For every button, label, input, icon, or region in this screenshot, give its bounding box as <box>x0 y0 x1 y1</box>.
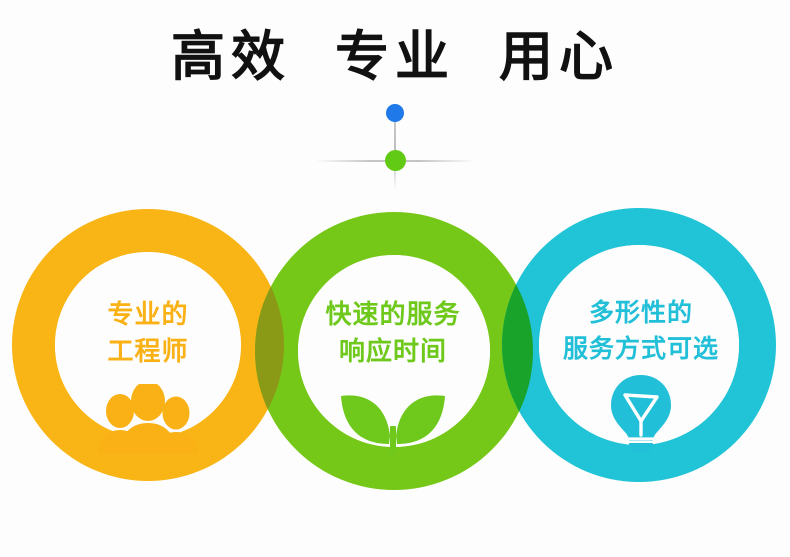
circle-orange-line-1: 专业的 <box>38 296 258 333</box>
circle-cyan-content[interactable]: 多形性的 服务方式可选 <box>528 296 754 451</box>
infographic-canvas: 高效专业用心 <box>0 0 790 557</box>
circle-green-content[interactable]: 快速的服务 响应时间 <box>283 296 503 454</box>
lightbulb-icon <box>528 373 754 451</box>
circle-orange-label: 专业的 工程师 <box>38 296 258 370</box>
circle-orange-line-2: 工程师 <box>38 333 258 370</box>
circle-cyan-line-2: 服务方式可选 <box>528 332 754 368</box>
circle-orange-content[interactable]: 专业的 工程师 <box>38 296 258 454</box>
circle-cyan-label: 多形性的 服务方式可选 <box>528 296 754 367</box>
circle-green-label: 快速的服务 响应时间 <box>283 296 503 370</box>
venn-rings <box>0 0 790 557</box>
sprout-leaf-icon <box>283 376 503 454</box>
circle-green-line-1: 快速的服务 <box>283 296 503 333</box>
circle-cyan-line-1: 多形性的 <box>528 296 754 332</box>
circle-green-line-2: 响应时间 <box>283 333 503 370</box>
people-group-icon <box>38 376 258 454</box>
